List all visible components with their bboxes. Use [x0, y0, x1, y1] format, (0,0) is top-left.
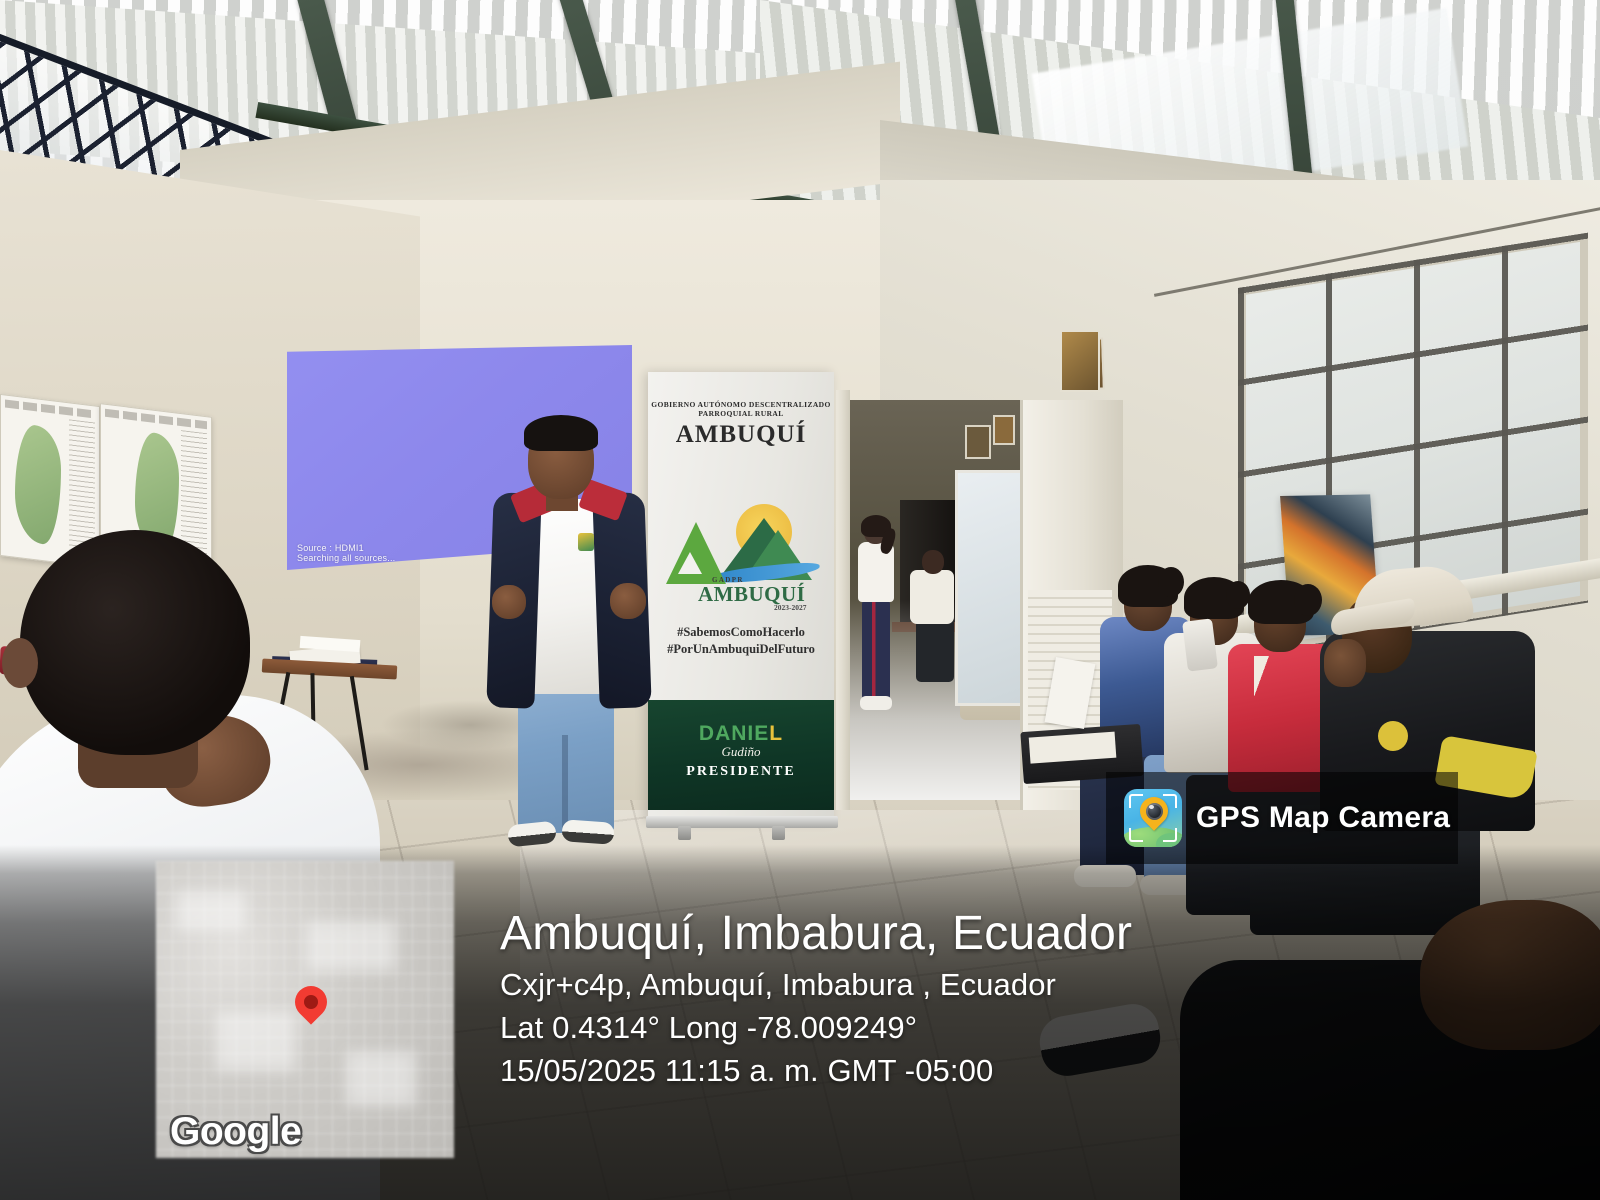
- presenter: [470, 415, 670, 855]
- mobile-phone: [1182, 618, 1218, 671]
- gps-map-camera-watermark: GPS Map Camera: [1106, 772, 1458, 864]
- banner-hashtag-1: #SabemosComoHacerlo: [648, 624, 834, 641]
- presenter-shirt-logo: [578, 533, 594, 551]
- back-room-standing-person: [856, 518, 896, 718]
- banner-hashtag-2: #PorUnAmbuquiDelFuturo: [648, 641, 834, 658]
- presenter-shoe-left: [507, 821, 557, 848]
- banner-header-line2: PARROQUIAL RURAL: [648, 409, 834, 418]
- laptop-screen: [1029, 732, 1117, 764]
- attendee-ear: [2, 638, 38, 688]
- gps-coordinates: Lat 0.4314° Long -78.009249°: [500, 1006, 1590, 1049]
- office-chair: [916, 618, 954, 682]
- wall-picture-frame: [965, 425, 991, 459]
- viewfinder-corner: [1163, 828, 1177, 842]
- banner-foot: [772, 826, 785, 840]
- person-bag-strap: [1254, 656, 1330, 772]
- map-blur-blob: [346, 1051, 416, 1106]
- person-hand: [1324, 639, 1366, 687]
- viewfinder-corner: [1129, 828, 1143, 842]
- logo-years: 2023-2027: [774, 603, 807, 612]
- map-blur-blob: [216, 1011, 296, 1071]
- presenter-hand-left: [492, 585, 526, 619]
- back-room-seated-person: [910, 550, 960, 690]
- presenter-hand-right: [610, 583, 646, 619]
- person-shoes: [860, 696, 892, 710]
- wall-picture-frame: [993, 415, 1015, 445]
- person-shoe: [1074, 865, 1136, 887]
- jacket-logo: [1378, 721, 1408, 751]
- gps-map-camera-icon: [1124, 789, 1182, 847]
- banner-footer: DANIEL Gudiño PRESIDENTE: [648, 700, 834, 810]
- attendee-head: [20, 530, 250, 755]
- whiteboard: [955, 470, 1023, 706]
- banner-foot: [678, 826, 691, 840]
- gps-place-title: Ambuquí, Imbabura, Ecuador: [500, 905, 1590, 963]
- banner-header-line1: GOBIERNO AUTÓNOMO DESCENTRALIZADO: [648, 400, 834, 409]
- camera-lens-icon: [1146, 803, 1163, 820]
- banner-footer-name-accent: L: [769, 722, 783, 745]
- person-legs: [862, 600, 890, 700]
- door-frame: [836, 390, 850, 810]
- gps-address: Cxjr+c4p, Ambuquí, Imbabura , Ecuador: [500, 963, 1590, 1006]
- rollup-banner: GOBIERNO AUTÓNOMO DESCENTRALIZADO PARROQ…: [648, 372, 834, 822]
- person-torso: [910, 570, 954, 624]
- gps-info-block: Ambuquí, Imbabura, Ecuador Cxjr+c4p, Amb…: [500, 905, 1590, 1092]
- banner-header: GOBIERNO AUTÓNOMO DESCENTRALIZADO PARROQ…: [648, 400, 834, 449]
- map-blur-blob: [176, 891, 246, 931]
- banner-footer-surname: Gudiño: [648, 744, 834, 760]
- photo-screenshot: Source : HDMI1 Searching all sources... …: [0, 0, 1600, 1200]
- banner-footer-role: PRESIDENTE: [648, 764, 834, 780]
- banner-footer-name-main: DANIE: [699, 722, 769, 745]
- person-head: [922, 550, 944, 574]
- presenter-hair: [524, 415, 598, 451]
- logo-letter-a-inner: [678, 552, 702, 574]
- google-logo: Google: [170, 1110, 301, 1154]
- gps-map-camera-label: GPS Map Camera: [1196, 801, 1450, 835]
- banner-footer-name: DANIEL: [648, 722, 834, 746]
- map-blur-blob: [306, 921, 396, 971]
- gps-timestamp: 15/05/2025 11:15 a. m. GMT -05:00: [500, 1049, 1590, 1092]
- banner-base: [646, 816, 838, 828]
- banner-logo: GADPR AMBUQUÍ 2023-2027: [648, 500, 834, 620]
- viewfinder-corner: [1129, 794, 1143, 808]
- banner-hashtags: #SabemosComoHacerlo #PorUnAmbuquiDelFutu…: [648, 624, 834, 658]
- banner-header-title: AMBUQUÍ: [648, 421, 834, 449]
- presenter-shoe-right: [561, 819, 614, 845]
- person-hair-bun: [1294, 584, 1322, 616]
- viewfinder-corner: [1163, 794, 1177, 808]
- presenter-jeans-seam: [562, 735, 568, 835]
- wall-artwork: [1060, 330, 1100, 392]
- map-thumbnail-content: Google: [156, 861, 454, 1158]
